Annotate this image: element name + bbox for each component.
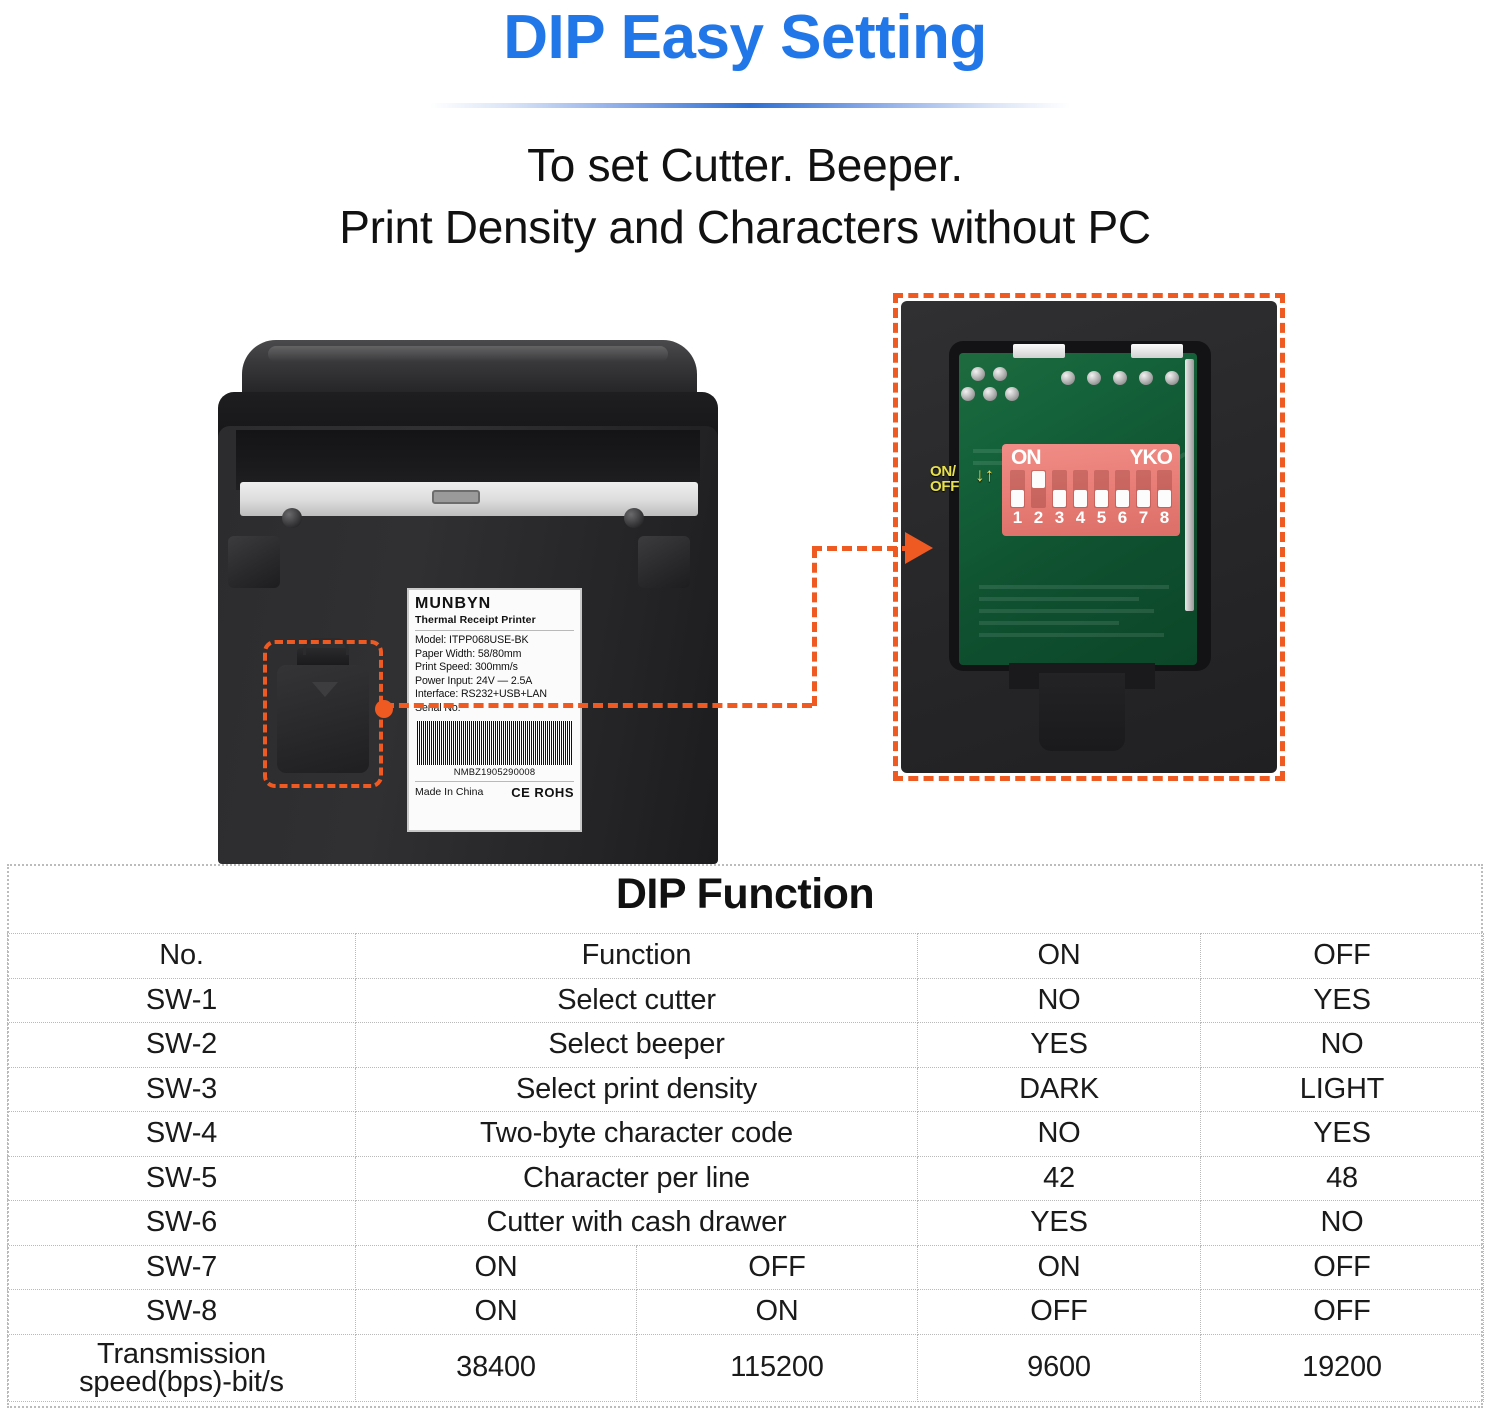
table-row: SW-4 Two-byte character code NO YES (8, 1112, 1484, 1157)
dip-brand-label: YKO (1129, 446, 1172, 470)
row-no: SW-1 (8, 978, 356, 1023)
barcode-image (417, 721, 572, 765)
connector-origin-dot (375, 700, 393, 718)
dip-switch-block[interactable]: ON YKO 1 2 3 4 5 6 7 8 (1002, 444, 1180, 536)
pcb-trace (979, 609, 1154, 613)
dip-switch-knob (1074, 490, 1087, 507)
connector-line-horizontal-upper (812, 546, 912, 551)
row-function: Select cutter (356, 978, 918, 1023)
pcb-trace (979, 585, 1169, 589)
row-col-b: 115200 (637, 1334, 918, 1401)
row-off: LIGHT (1201, 1067, 1484, 1112)
row-on: YES (918, 1201, 1201, 1246)
pin-header-left (1013, 344, 1065, 358)
pcb-trace (979, 597, 1139, 601)
solder-pad (1165, 371, 1179, 385)
pcb-trace (979, 633, 1164, 637)
row-off: NO (1201, 1023, 1484, 1068)
row-off: 19200 (1201, 1334, 1484, 1401)
row-no: SW-6 (8, 1201, 356, 1246)
infographic-page: DIP Easy Setting To set Cutter. Beeper. … (0, 0, 1490, 1415)
certification-marks-icon: CE ROHS (511, 785, 574, 800)
label-power-input: Power Input: 24V — 2.5A (415, 675, 574, 689)
row-col-a: ON (356, 1245, 637, 1290)
row-function: Select beeper (356, 1023, 918, 1068)
dip-switch-2[interactable] (1031, 470, 1046, 508)
label-interface: Interface: RS232+USB+LAN (415, 688, 574, 702)
solder-pad (983, 387, 997, 401)
solder-pad (961, 387, 975, 401)
dip-switch-knob (1053, 490, 1066, 507)
table-row: SW-2 Select beeper YES NO (8, 1023, 1484, 1068)
label-divider-top (415, 630, 574, 631)
dip-switch-4[interactable] (1073, 470, 1088, 508)
dip-number-1: 1 (1010, 508, 1025, 528)
row-off: NO (1201, 1201, 1484, 1246)
table-row: SW-1 Select cutter NO YES (8, 978, 1484, 1023)
row-no: SW-7 (8, 1245, 356, 1290)
table-row-transmission: Transmission speed(bps)-bit/s 38400 1152… (8, 1334, 1484, 1401)
dip-switch-5[interactable] (1094, 470, 1109, 508)
row-col-a: 38400 (356, 1334, 637, 1401)
label-footer: Made In China CE ROHS (415, 785, 574, 800)
printer-tab-right (638, 536, 690, 588)
pcb-trace (979, 621, 1119, 625)
row-no: SW-2 (8, 1023, 356, 1068)
row-function: Cutter with cash drawer (356, 1201, 918, 1246)
row-col-a: ON (356, 1290, 637, 1335)
label-divider-bottom (415, 781, 574, 782)
screw-left-icon (282, 508, 302, 528)
printer-photo: MUNBYN Thermal Receipt Printer Model: IT… (200, 330, 730, 864)
row-on: DARK (918, 1067, 1201, 1112)
usb-port-icon (432, 490, 480, 504)
row-on: 9600 (918, 1334, 1201, 1401)
dip-function-table: No. Function ON OFF SW-1 Select cutter N… (7, 933, 1484, 1402)
label-print-speed: Print Speed: 300mm/s (415, 661, 574, 675)
label-paper-width: Paper Width: 58/80mm (415, 648, 574, 662)
dip-switch-6[interactable] (1115, 470, 1130, 508)
row-off: 48 (1201, 1156, 1484, 1201)
dip-closeup-photo (901, 301, 1277, 773)
dip-switch-knob (1032, 471, 1045, 488)
solder-pad (1139, 371, 1153, 385)
on-off-line-2: OFF (930, 479, 959, 494)
row-no: SW-5 (8, 1156, 356, 1201)
dip-switch-3[interactable] (1052, 470, 1067, 508)
dip-cover-highlight-box (263, 640, 383, 788)
closeup-bottom-tab (1039, 673, 1125, 751)
dip-switch-7[interactable] (1136, 470, 1151, 508)
metal-bracket (1185, 359, 1194, 611)
table-row-split: SW-8 ON ON OFF OFF (8, 1290, 1484, 1335)
dip-switch-knob (1137, 490, 1150, 507)
dip-number-8: 8 (1157, 508, 1172, 528)
printer-inner-shadow (236, 430, 700, 490)
up-down-arrows-icon: ↓↑ (975, 466, 994, 485)
subtitle-line-1: To set Cutter. Beeper. (0, 134, 1490, 196)
dip-number-3: 3 (1052, 508, 1067, 528)
page-title: DIP Easy Setting (0, 2, 1490, 73)
header-function: Function (356, 934, 918, 979)
barcode-number: NMBZ1905290008 (415, 766, 574, 777)
solder-pad (1113, 371, 1127, 385)
dip-function-table-zone: DIP Function No. Function ON OFF SW-1 Se… (7, 864, 1483, 1408)
header-on: ON (918, 934, 1201, 979)
solder-pad (1087, 371, 1101, 385)
table-row-split: SW-7 ON OFF ON OFF (8, 1245, 1484, 1290)
row-no: SW-3 (8, 1067, 356, 1112)
printer-spec-label: MUNBYN Thermal Receipt Printer Model: IT… (407, 588, 582, 832)
on-off-annotation: ON/ OFF (930, 464, 959, 494)
row-no: SW-4 (8, 1112, 356, 1157)
header-no: No. (8, 934, 356, 979)
printer-tab-left (228, 536, 280, 588)
row-off: YES (1201, 978, 1484, 1023)
transmission-label-line-1: Transmission (8, 1340, 355, 1368)
connector-line-horizontal-lower (384, 703, 812, 708)
connector-arrow-icon (905, 532, 933, 564)
solder-pad (971, 367, 985, 381)
dip-number-5: 5 (1094, 508, 1109, 528)
table-title: DIP Function (7, 870, 1483, 919)
solder-pad (1005, 387, 1019, 401)
dip-switch-row (1010, 470, 1172, 508)
row-function: Character per line (356, 1156, 918, 1201)
row-transmission-label: Transmission speed(bps)-bit/s (8, 1334, 356, 1401)
dip-switch-8[interactable] (1157, 470, 1172, 508)
table-row: SW-6 Cutter with cash drawer YES NO (8, 1201, 1484, 1246)
label-model: Model: ITPP068USE-BK (415, 634, 574, 648)
dip-switch-knob (1095, 490, 1108, 507)
connector-line-vertical (812, 548, 817, 706)
label-brand: MUNBYN (415, 595, 574, 613)
on-off-line-1: ON/ (930, 464, 959, 479)
solder-pad (993, 367, 1007, 381)
transmission-label-line-2: speed(bps)-bit/s (8, 1368, 355, 1396)
subtitle-line-2: Print Density and Characters without PC (0, 196, 1490, 258)
label-made-in: Made In China (415, 786, 483, 798)
row-on: OFF (918, 1290, 1201, 1335)
dip-number-2: 2 (1031, 508, 1046, 528)
row-off: OFF (1201, 1245, 1484, 1290)
dip-switch-knob (1158, 490, 1171, 507)
solder-pad (1061, 371, 1075, 385)
row-no: SW-8 (8, 1290, 356, 1335)
screw-right-icon (624, 508, 644, 528)
row-on: 42 (918, 1156, 1201, 1201)
label-product: Thermal Receipt Printer (415, 614, 574, 626)
row-col-b: ON (637, 1290, 918, 1335)
dip-switch-1[interactable] (1010, 470, 1025, 508)
page-subtitle: To set Cutter. Beeper. Print Density and… (0, 134, 1490, 258)
dip-switch-numbers: 1 2 3 4 5 6 7 8 (1010, 508, 1172, 528)
row-on: ON (918, 1245, 1201, 1290)
row-off: YES (1201, 1112, 1484, 1157)
row-function: Select print density (356, 1067, 918, 1112)
row-col-b: OFF (637, 1245, 918, 1290)
header-off: OFF (1201, 934, 1484, 979)
dip-number-4: 4 (1073, 508, 1088, 528)
dip-switch-knob (1011, 490, 1024, 507)
pin-header-right (1131, 344, 1183, 358)
table-row: SW-5 Character per line 42 48 (8, 1156, 1484, 1201)
row-on: YES (918, 1023, 1201, 1068)
row-function: Two-byte character code (356, 1112, 918, 1157)
dip-switch-knob (1116, 490, 1129, 507)
title-divider (430, 103, 1070, 108)
row-on: NO (918, 1112, 1201, 1157)
dip-number-7: 7 (1136, 508, 1151, 528)
table-header-row: No. Function ON OFF (8, 934, 1484, 979)
dip-number-6: 6 (1115, 508, 1130, 528)
row-on: NO (918, 978, 1201, 1023)
table-row: SW-3 Select print density DARK LIGHT (8, 1067, 1484, 1112)
row-off: OFF (1201, 1290, 1484, 1335)
dip-on-label: ON (1011, 446, 1041, 470)
